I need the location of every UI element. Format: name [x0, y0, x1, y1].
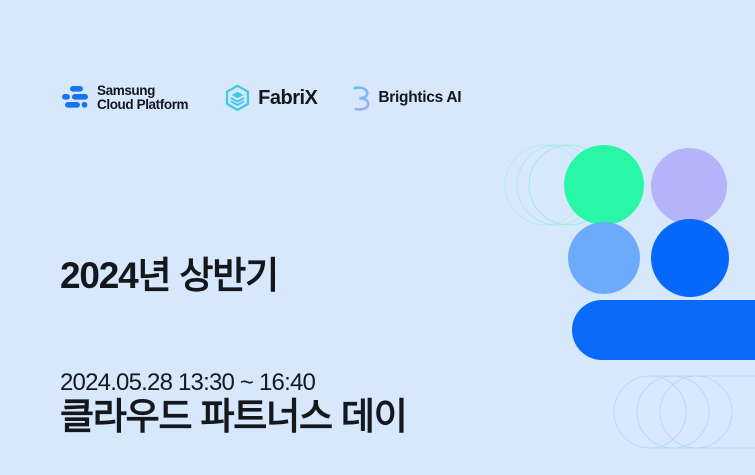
- circle-light-blue: [568, 222, 640, 294]
- pill-shape: [572, 300, 755, 360]
- event-banner: SamsungCloud Platform FabriX: [0, 0, 755, 475]
- green-trail-outlines: [505, 145, 609, 225]
- circle-green: [564, 145, 644, 225]
- logo-row: SamsungCloud Platform FabriX: [60, 78, 461, 118]
- bottom-outline-circles: [614, 376, 755, 448]
- event-info: 2024.05.28 13:30 ~ 16:40 삼성SDS타워(잠실), 서관…: [60, 288, 428, 475]
- logo-fabrix[interactable]: FabriX: [224, 84, 317, 112]
- scp-dots-icon: [60, 84, 90, 112]
- brightics-b-icon: [347, 83, 371, 113]
- logo-samsung-cloud-platform[interactable]: SamsungCloud Platform: [60, 84, 188, 113]
- circle-deep-blue: [651, 219, 729, 297]
- scp-label-line1: Samsung: [97, 83, 155, 98]
- logo-brightics-ai[interactable]: Brightics AI: [347, 83, 461, 113]
- logo-samsung-cloud-platform-label: SamsungCloud Platform: [97, 84, 188, 113]
- circle-purple: [651, 148, 727, 224]
- fabrix-hexagon-icon: [224, 84, 251, 112]
- logo-brightics-ai-label: Brightics AI: [378, 89, 461, 107]
- logo-fabrix-label: FabriX: [258, 87, 317, 110]
- scp-label-line2: Cloud Platform: [97, 98, 188, 113]
- event-datetime: 2024.05.28 13:30 ~ 16:40: [60, 364, 428, 402]
